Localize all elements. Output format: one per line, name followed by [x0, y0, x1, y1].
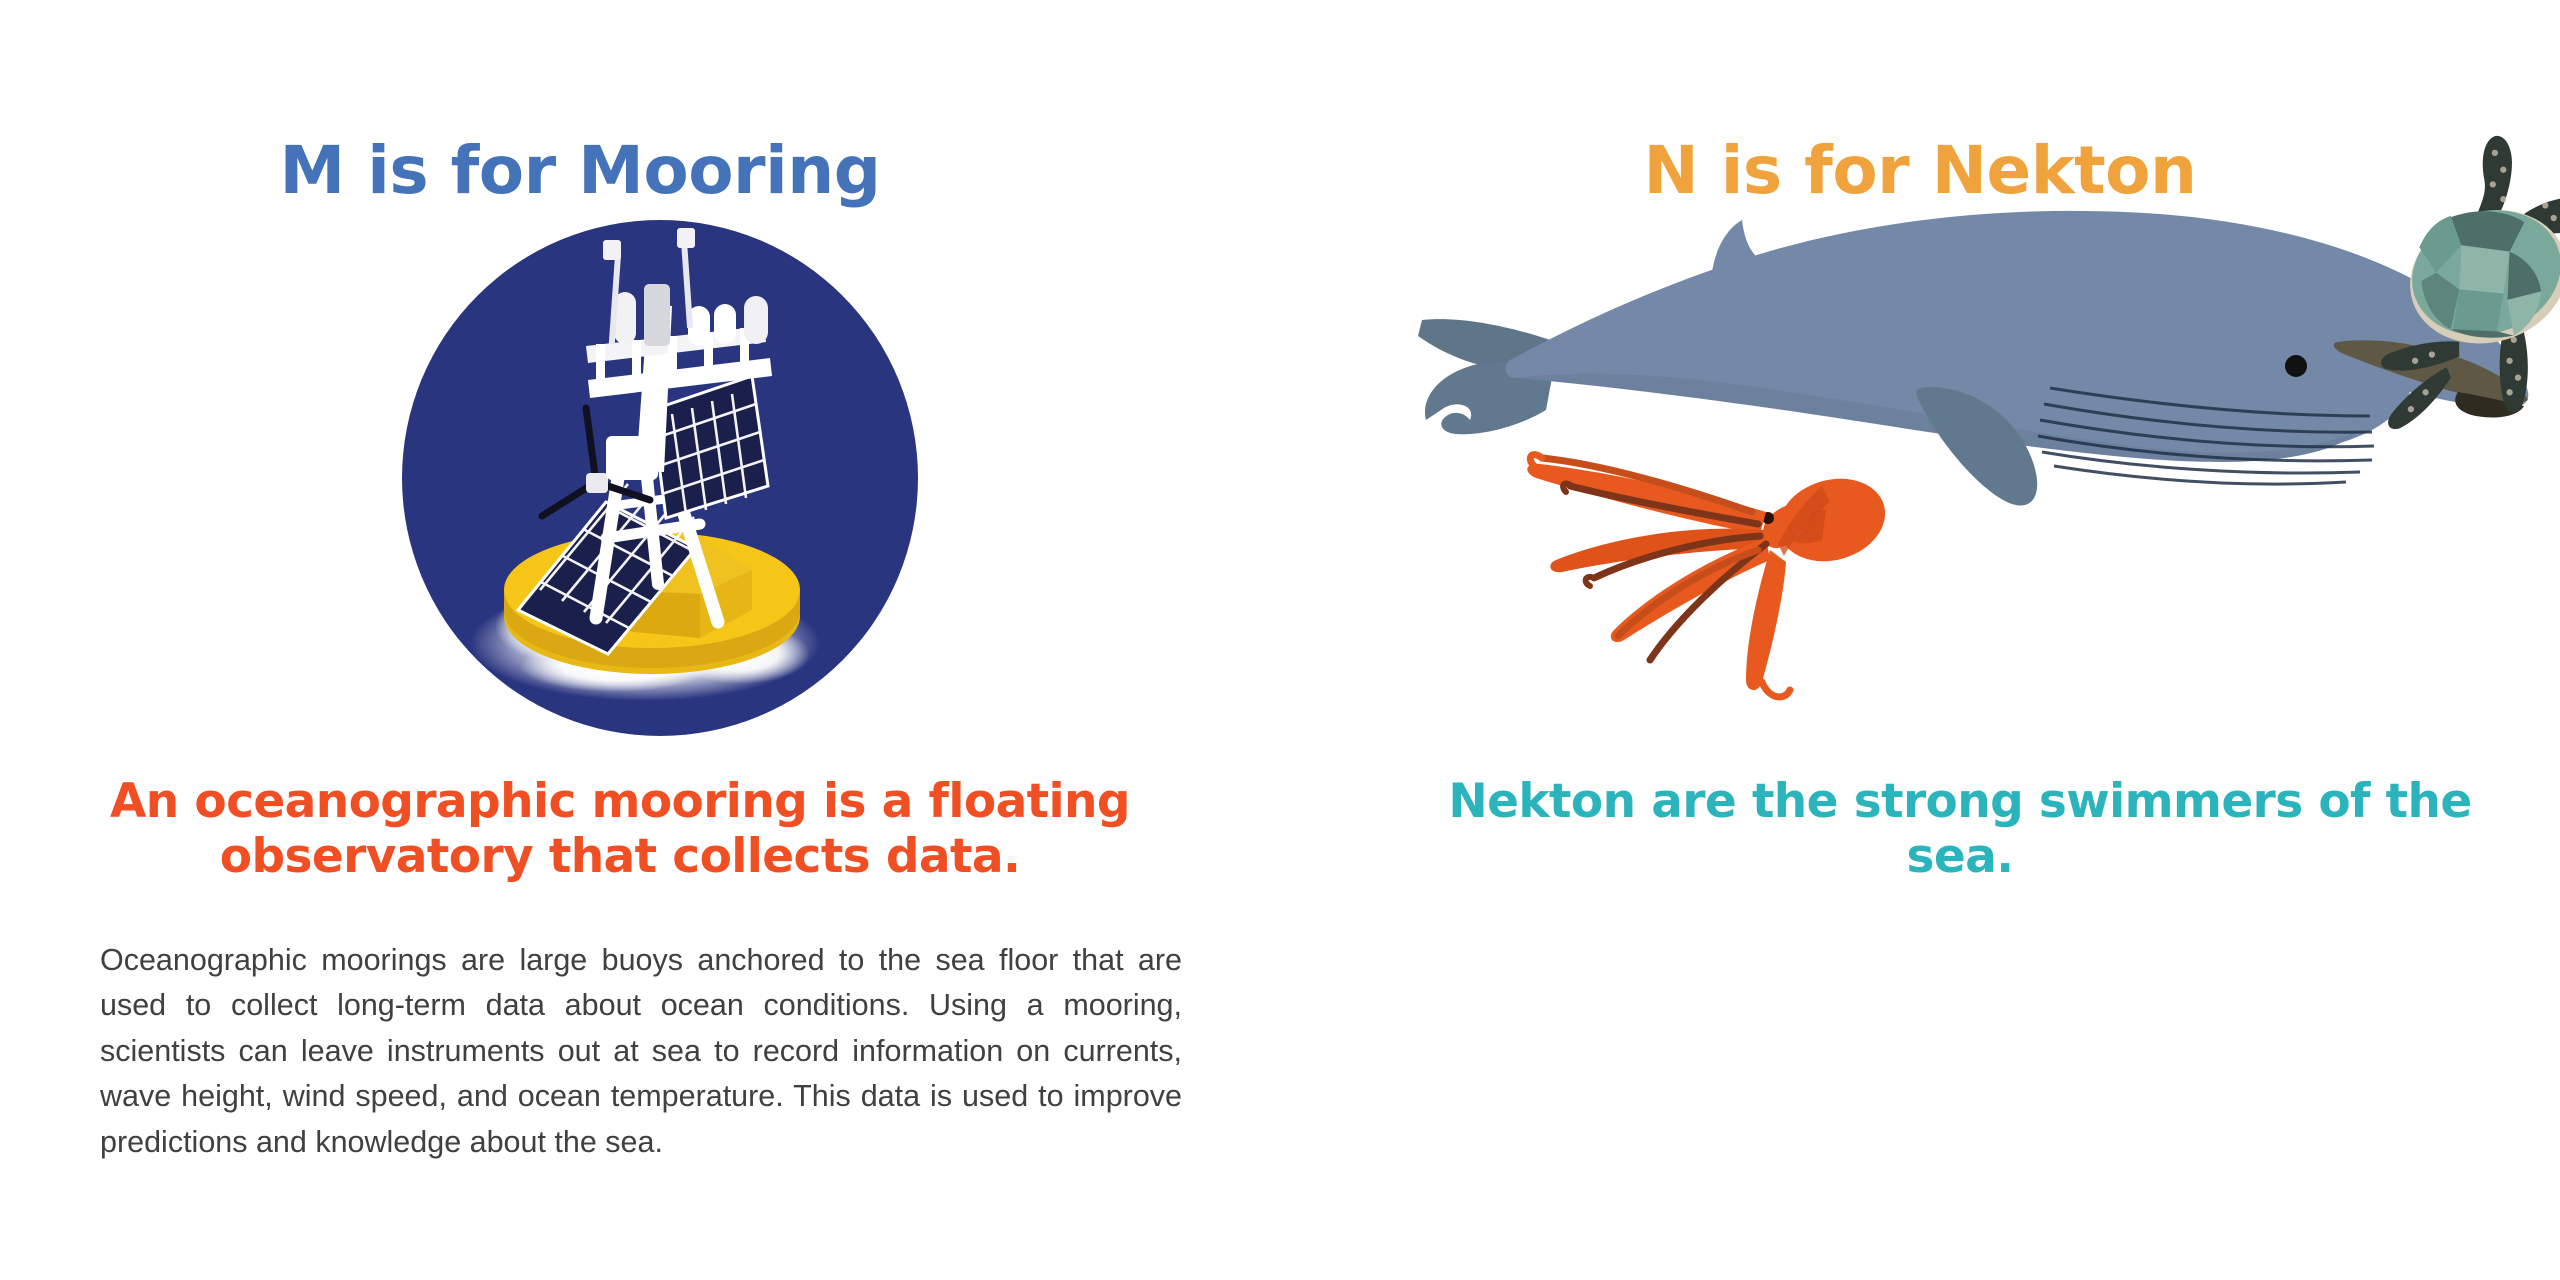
mooring-svg: [400, 218, 920, 738]
nekton-illustration: [1360, 120, 2560, 740]
page-title-mooring: M is for Mooring: [0, 138, 1160, 204]
orange-squid: [1527, 455, 1895, 697]
alphabet-spread: M is for Mooring: [0, 0, 2560, 1280]
mooring-body-text: Oceanographic moorings are large buoys a…: [100, 938, 1182, 1165]
whale-body: [1506, 211, 2529, 462]
nekton-svg: [1360, 120, 2560, 740]
nekton-headline: Nekton are the strong swimmers of the se…: [1400, 775, 2520, 884]
nekton-panel: N is for Nekton: [1280, 0, 2560, 1280]
whale-eye: [2285, 355, 2307, 377]
mooring-buoy-illustration: [400, 218, 920, 738]
mooring-headline: An oceanographic mooring is a floating o…: [60, 775, 1180, 884]
mooring-panel: M is for Mooring: [0, 0, 1280, 1280]
